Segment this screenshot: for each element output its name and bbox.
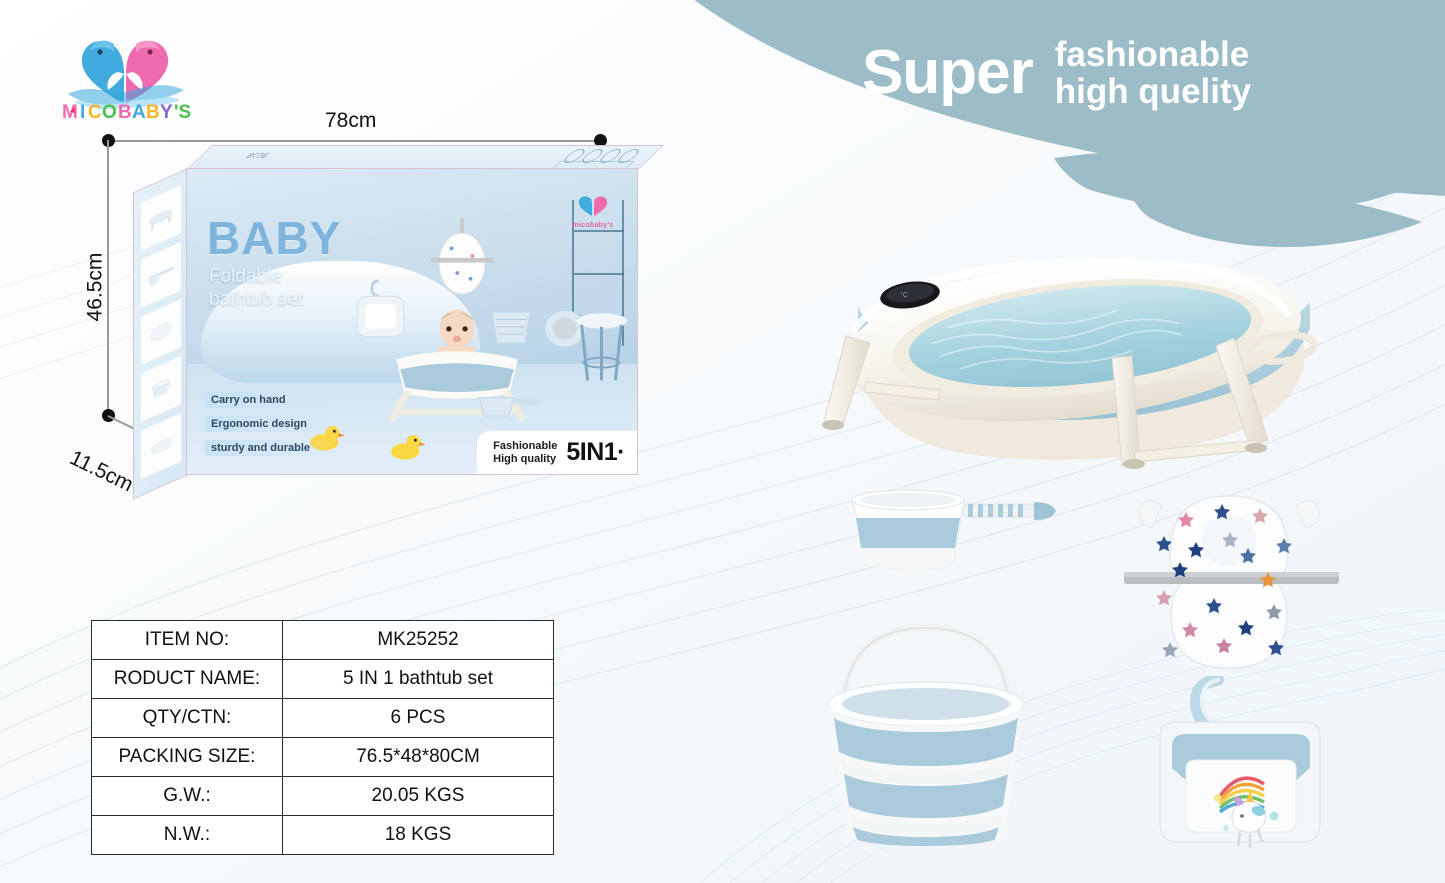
product-photo-collapsible-scoop xyxy=(838,478,1083,578)
package-quality-badge: Fashionable High quality 5IN1· xyxy=(477,431,637,474)
svg-text:°C: °C xyxy=(900,291,908,299)
artwork-shelf-rung xyxy=(574,273,624,275)
spec-key: ITEM NO: xyxy=(92,621,283,660)
package-badge-line1: Fashionable xyxy=(493,440,557,453)
side-thumbnail-basin xyxy=(140,412,182,481)
package-subtitle-line2: bathtub set xyxy=(209,288,303,311)
spec-value: 76.5*48*80CM xyxy=(283,738,554,777)
package-feature-list: Carry on hand Ergonomic design sturdy an… xyxy=(205,392,332,456)
product-listing-page: Super fashionable high quelity xyxy=(0,0,1445,883)
package-color-mark: BLUE xyxy=(245,151,273,158)
spec-value: 18 KGS xyxy=(283,816,554,855)
package-box-group: 78cm 46.5cm 11.5cm BLUE xyxy=(95,125,655,485)
product-package-box: BLUE xyxy=(114,145,639,475)
svg-text:B: B xyxy=(146,102,160,118)
spec-value: 5 IN 1 bathtub set xyxy=(283,660,554,699)
dimension-label-height: 46.5cm xyxy=(83,253,107,322)
artwork-stacked-basins xyxy=(484,303,538,358)
header-subtitle-line2: high quelity xyxy=(1055,73,1251,110)
artwork-stool xyxy=(570,309,633,388)
artwork-collapsed-scoop xyxy=(475,392,547,426)
artwork-hanging-cushion xyxy=(426,218,498,303)
artwork-shelf-rung xyxy=(574,230,624,232)
product-photo-bath-cushion xyxy=(1124,488,1339,673)
specification-table: ITEM NO: MK25252 RODUCT NAME: 5 IN 1 bat… xyxy=(91,620,554,855)
table-row: QTY/CTN: 6 PCS xyxy=(92,699,554,738)
svg-text:I: I xyxy=(80,102,85,118)
product-photo-foldable-bathtub: °C xyxy=(782,240,1352,470)
spec-key: RODUCT NAME: xyxy=(92,660,283,699)
table-row: ITEM NO: MK25252 xyxy=(92,621,554,660)
package-badge-count: 5IN1· xyxy=(566,438,625,467)
package-brand-name: micobaby's xyxy=(563,222,623,229)
table-row: N.W.: 18 KGS xyxy=(92,816,554,855)
dimension-label-width: 78cm xyxy=(325,109,376,133)
package-feature-item: Ergonomic design xyxy=(205,416,332,432)
side-thumbnail-list xyxy=(140,184,182,481)
package-feature-item: sturdy and durable xyxy=(205,440,332,456)
svg-text:O: O xyxy=(102,102,117,118)
package-subtitle: Foldable bathtub set xyxy=(209,265,303,311)
product-photo-collapsible-bucket xyxy=(818,612,1033,847)
header-text-block: Super fashionable high quelity xyxy=(862,18,1422,128)
table-row: PACKING SIZE: 76.5*48*80CM xyxy=(92,738,554,777)
package-subtitle-line1: Foldable xyxy=(209,265,303,288)
spec-key: PACKING SIZE: xyxy=(92,738,283,777)
package-title: BABY xyxy=(207,217,341,261)
spec-value: MK25252 xyxy=(283,621,554,660)
svg-text:Y: Y xyxy=(160,102,173,118)
dimension-line-width xyxy=(108,140,600,142)
spec-key: QTY/CTN: xyxy=(92,699,283,738)
package-box-front-panel: BABY Foldable bathtub set micobaby's Car… xyxy=(186,168,638,475)
header-subtitle-line1: fashionable xyxy=(1055,36,1251,73)
product-photo-square-basin xyxy=(1146,676,1336,858)
spec-key: N.W.: xyxy=(92,816,283,855)
svg-text:M: M xyxy=(62,102,78,118)
table-row: RODUCT NAME: 5 IN 1 bathtub set xyxy=(92,660,554,699)
artwork-square-basin xyxy=(349,279,412,346)
spec-value: 20.05 KGS xyxy=(283,777,554,816)
brand-logo: M I C O B A B Y 'S xyxy=(52,18,197,118)
package-badge-line2: High quality xyxy=(493,453,557,466)
artwork-rubber-duck xyxy=(385,428,426,465)
package-box-top-panel: BLUE xyxy=(186,145,664,170)
svg-text:B: B xyxy=(118,102,132,118)
header-super-word: Super xyxy=(862,42,1033,104)
package-box-side-panel xyxy=(133,168,188,499)
package-brand-logo: micobaby's xyxy=(563,195,623,229)
spec-key: G.W.: xyxy=(92,777,283,816)
package-badge-text: Fashionable High quality xyxy=(493,440,557,466)
header-subtitle-block: fashionable high quelity xyxy=(1055,36,1251,110)
spec-value: 6 PCS xyxy=(283,699,554,738)
svg-text:A: A xyxy=(132,102,146,118)
svg-text:C: C xyxy=(88,102,102,118)
svg-text:'S: 'S xyxy=(174,102,191,118)
package-feature-item: Carry on hand xyxy=(205,392,332,408)
table-row: G.W.: 20.05 KGS xyxy=(92,777,554,816)
